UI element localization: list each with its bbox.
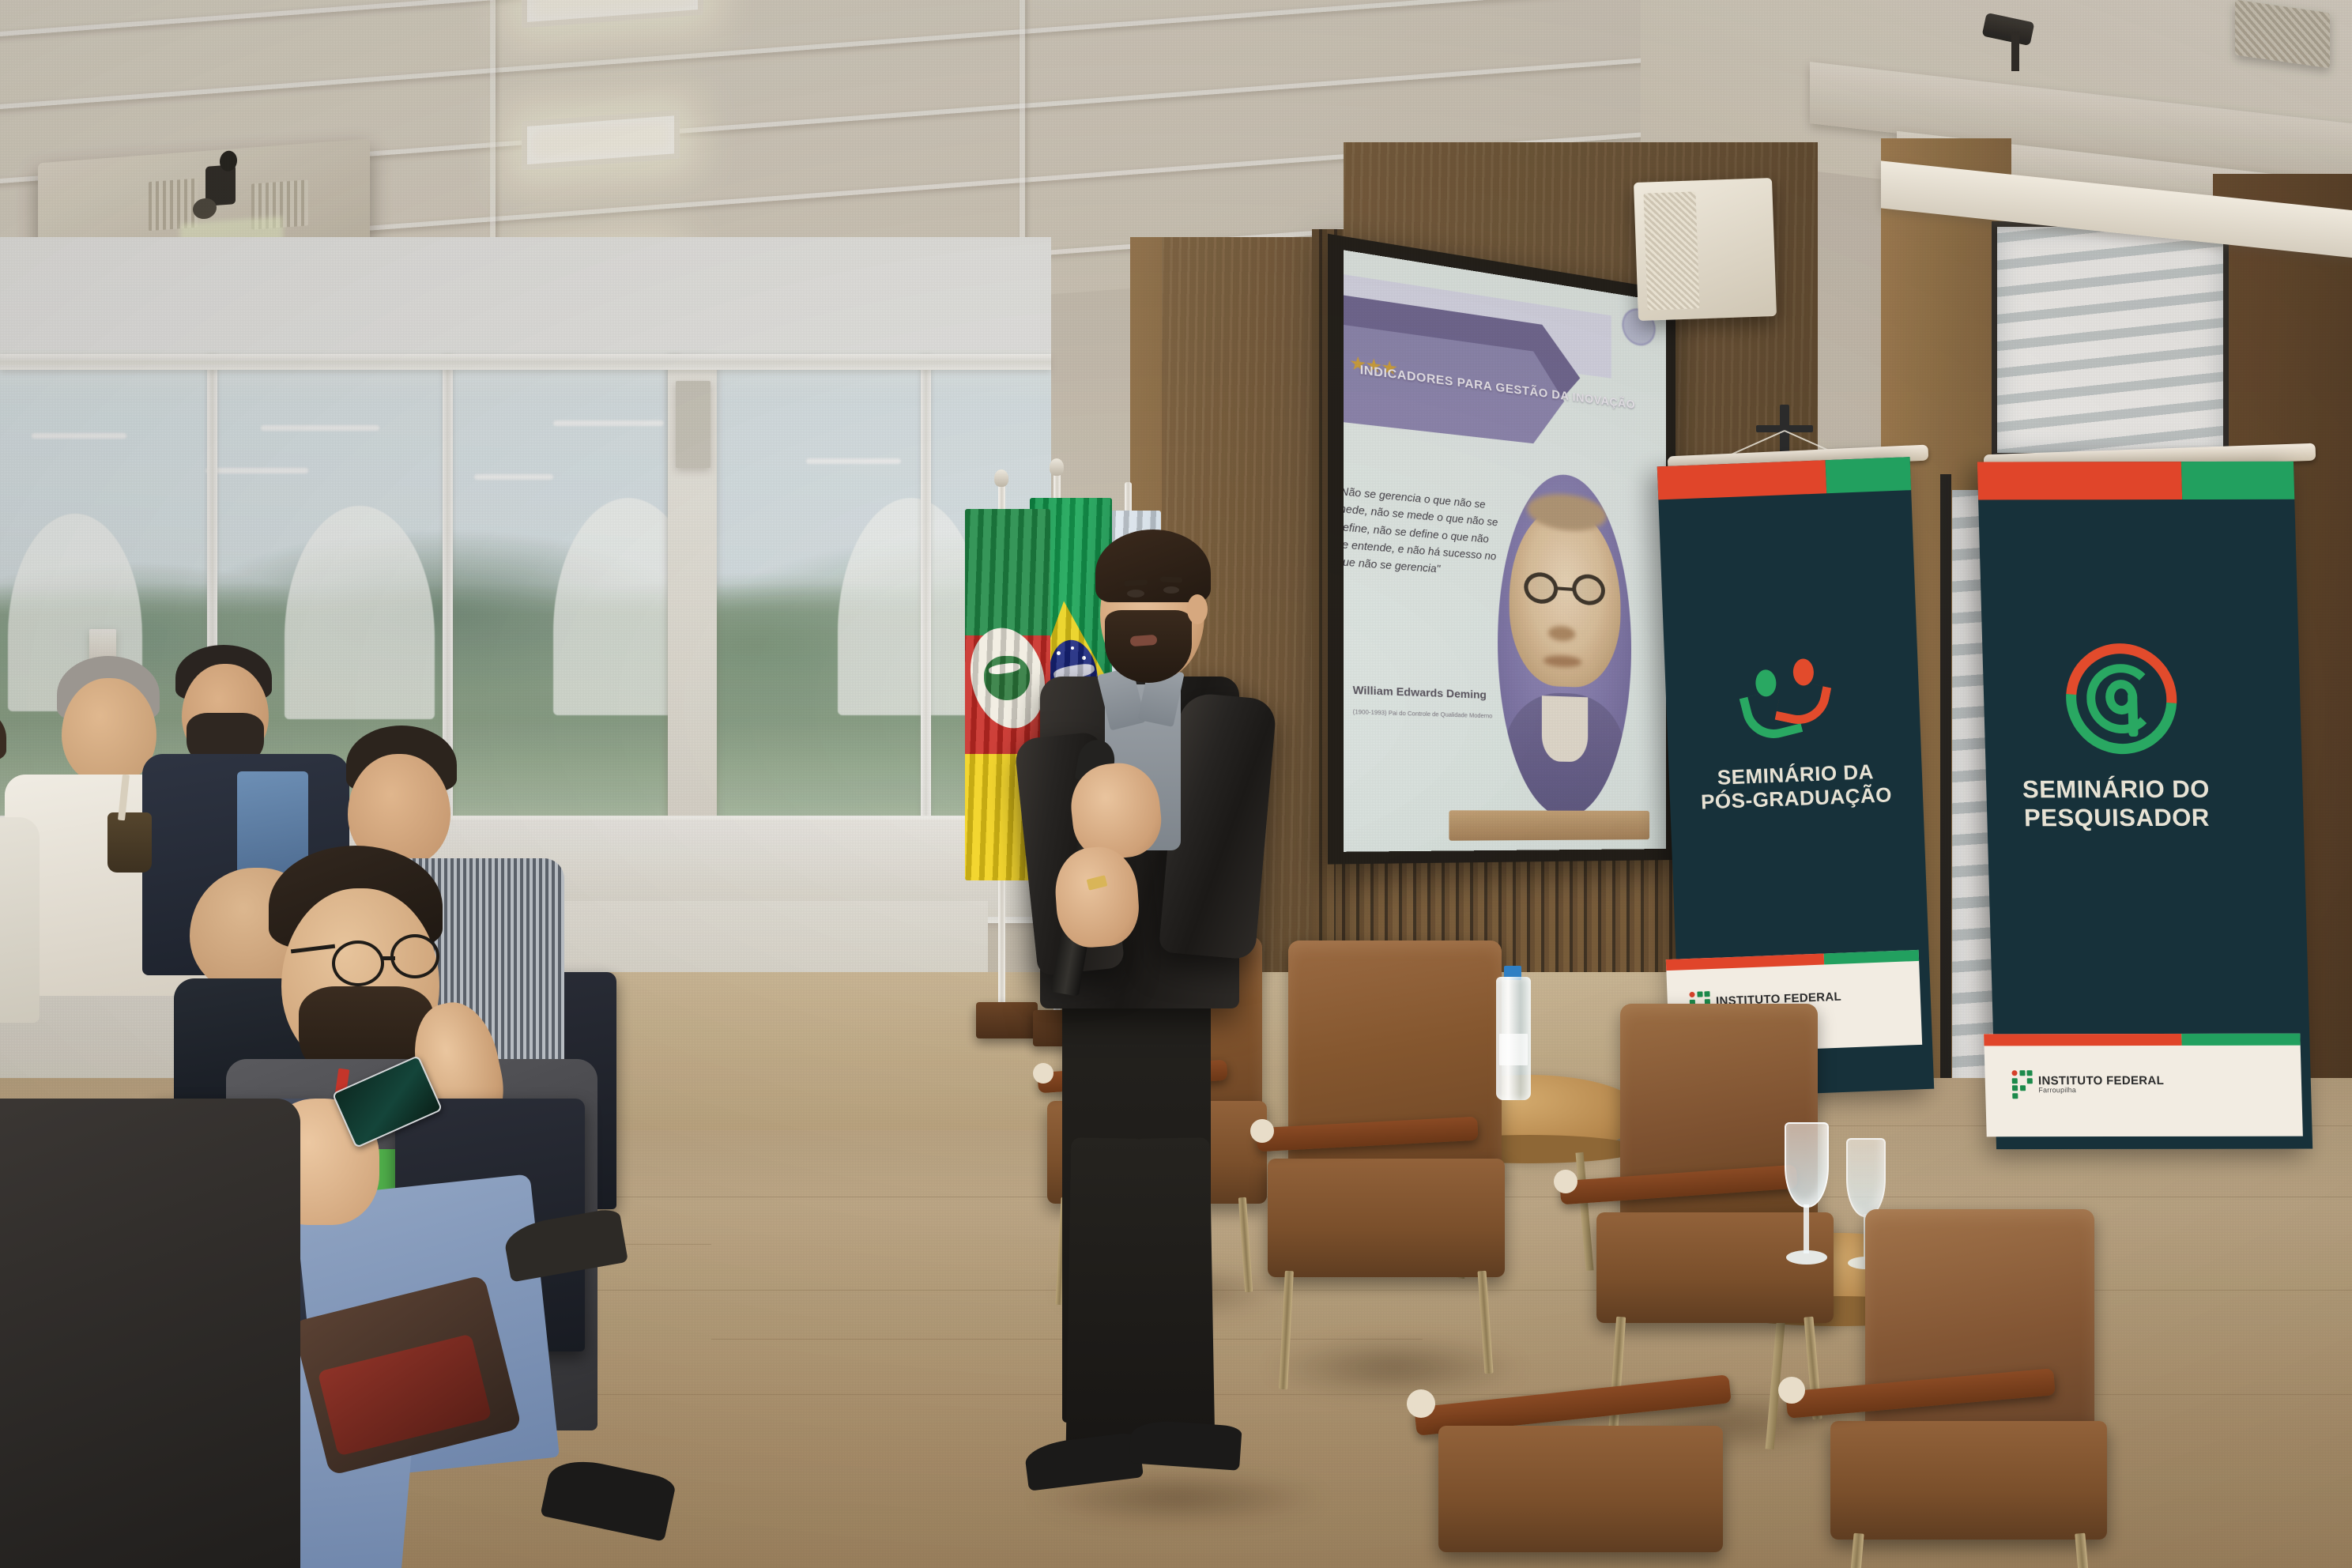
- banner-title-line1: SEMINÁRIO DO: [1986, 776, 2246, 804]
- institution-name: INSTITUTO FEDERAL: [2038, 1075, 2164, 1087]
- armchair: [1415, 1391, 1747, 1568]
- slide-portrait: [1498, 468, 1631, 817]
- slide: ★★★ INDICADORES PARA GESTÃO DA INOVAÇÃO …: [1344, 250, 1666, 851]
- banner-pesquisador-group: SEMINÁRIO DO PESQUISADOR INSTITUTO FEDER…: [1984, 441, 2316, 1231]
- at-target-circles-icon: [2064, 643, 2178, 754]
- ceiling-light: [522, 110, 680, 171]
- eyeglasses-icon: [390, 934, 439, 978]
- instituto-federal-logo: INSTITUTO FEDERAL Farroupilha: [2011, 1070, 2164, 1099]
- presenter-trouser-leg: [1066, 1137, 1144, 1455]
- presenter-shoe: [1023, 1431, 1144, 1491]
- audience-clothing: [0, 1099, 300, 1568]
- banner-stripe-red: [1657, 460, 1827, 499]
- mate-cup: [107, 812, 152, 873]
- banner-stripe-green: [2181, 462, 2294, 499]
- slide-quote: "Não se gerencia o que não se mede, não …: [1344, 482, 1501, 582]
- wall-vent: [676, 381, 710, 468]
- window-right-upper: [1992, 221, 2229, 458]
- banner-title-line2: PESQUISADOR: [1987, 805, 2247, 832]
- two-people-figures-icon: [1737, 658, 1847, 750]
- photo-scene: ★★★ INDICADORES PARA GESTÃO DA INOVAÇÃO …: [0, 0, 2352, 1568]
- camera-mount: [2011, 32, 2019, 71]
- wall-speaker: [1634, 178, 1777, 321]
- presenter: [1012, 506, 1344, 1517]
- slide-author-subtitle: (1900-1993) Pai do Controle de Qualidade…: [1353, 710, 1516, 721]
- presenter-trouser-leg: [1134, 1137, 1216, 1455]
- presenter-shoe: [1129, 1419, 1242, 1471]
- banner-stripe-red: [1977, 462, 2182, 499]
- presenter-hair: [1095, 530, 1211, 602]
- armchair: [1818, 1209, 2134, 1568]
- banner-stripe-green: [1826, 457, 1911, 493]
- banner-footer: INSTITUTO FEDERAL Farroupilha: [1984, 1034, 2303, 1137]
- projection-screen: ★★★ INDICADORES PARA GESTÃO DA INOVAÇÃO …: [1344, 250, 1666, 851]
- eyeglasses-icon: [332, 940, 384, 986]
- institution-campus: Farroupilha: [2038, 1087, 2164, 1094]
- water-bottle[interactable]: [1490, 966, 1534, 1100]
- ceiling-light: [522, 0, 703, 28]
- slide-author: William Edwards Deming: [1353, 684, 1516, 703]
- audience-person: [0, 702, 47, 971]
